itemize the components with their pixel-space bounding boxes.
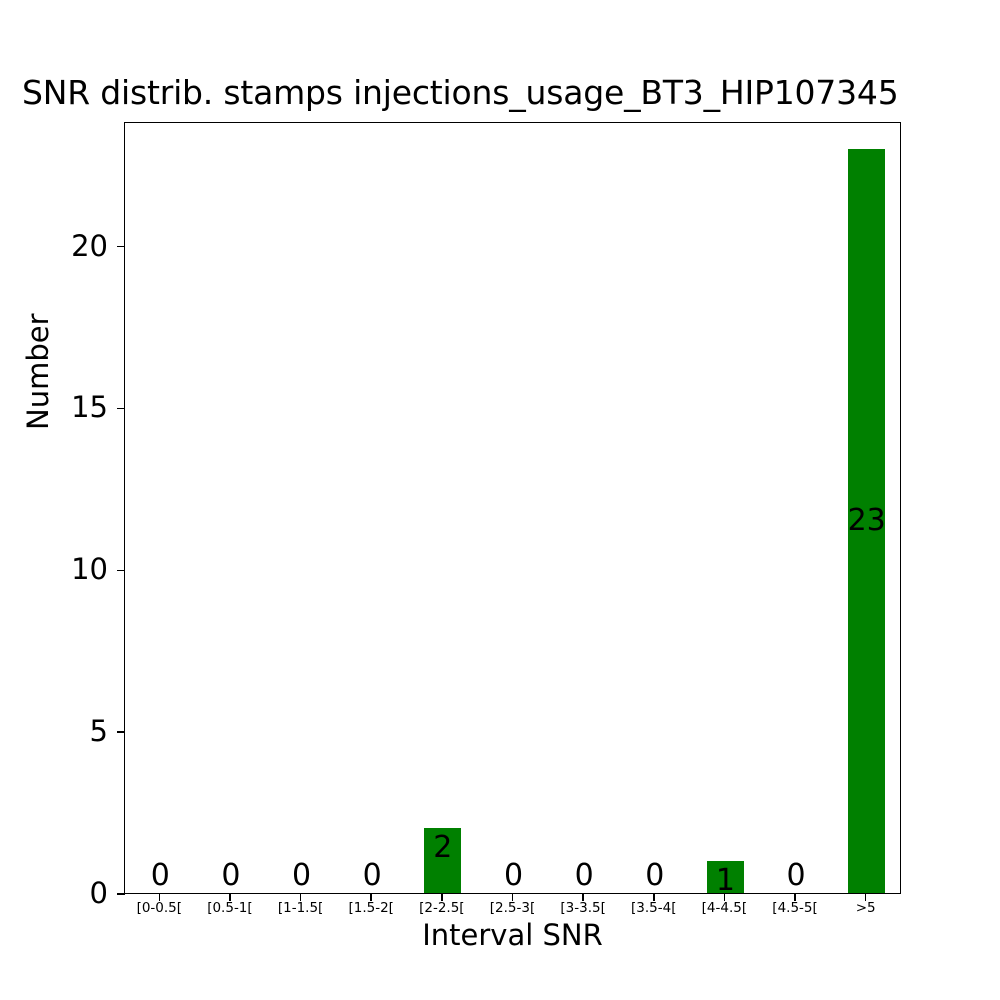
y-tick-label: 15 bbox=[28, 393, 108, 422]
x-tick-label: >5 bbox=[830, 900, 901, 916]
x-tick-label: [0-0.5[ bbox=[124, 900, 195, 916]
bar-value-label: 0 bbox=[478, 861, 549, 891]
bar-value-label: 0 bbox=[549, 861, 620, 891]
x-tick-label: [3.5-4[ bbox=[618, 900, 689, 916]
x-tick-mark bbox=[159, 893, 161, 901]
bar-value-label: 0 bbox=[337, 861, 408, 891]
x-tick-label: [1-1.5[ bbox=[265, 900, 336, 916]
x-tick-label: [4.5-5[ bbox=[760, 900, 831, 916]
bar-value-label: 23 bbox=[831, 506, 902, 536]
x-tick-mark bbox=[794, 893, 796, 901]
y-tick-label: 5 bbox=[28, 717, 108, 746]
bar-value-label: 0 bbox=[266, 861, 337, 891]
x-tick-label: [4-4.5[ bbox=[689, 900, 760, 916]
x-tick-label: [2-2.5[ bbox=[407, 900, 478, 916]
bar-value-label: 0 bbox=[125, 861, 196, 891]
bars-layer: 000020001023 bbox=[125, 123, 900, 893]
x-tick-label: [1.5-2[ bbox=[336, 900, 407, 916]
x-tick-mark bbox=[653, 893, 655, 901]
x-tick-mark bbox=[865, 893, 867, 901]
x-tick-mark bbox=[724, 893, 726, 901]
chart-title: SNR distrib. stamps injections_usage_BT3… bbox=[22, 70, 1000, 116]
x-tick-mark bbox=[229, 893, 231, 901]
bar-value-label: 1 bbox=[690, 866, 761, 896]
bar-value-label: 0 bbox=[196, 861, 267, 891]
x-tick-mark bbox=[370, 893, 372, 901]
y-tick-label: 0 bbox=[28, 879, 108, 908]
x-tick-label: [0.5-1[ bbox=[195, 900, 266, 916]
plot-area: 000020001023 bbox=[124, 122, 901, 894]
x-tick-mark bbox=[441, 893, 443, 901]
x-tick-mark bbox=[300, 893, 302, 901]
y-tick-label: 20 bbox=[28, 232, 108, 261]
x-tick-mark bbox=[512, 893, 514, 901]
bar-value-label: 2 bbox=[408, 833, 479, 863]
bar-value-label: 0 bbox=[619, 861, 690, 891]
y-tick-label: 10 bbox=[28, 555, 108, 584]
x-tick-label: [3-3.5[ bbox=[548, 900, 619, 916]
x-tick-mark bbox=[582, 893, 584, 901]
x-axis-label: Interval SNR bbox=[124, 918, 901, 952]
x-tick-label: [2.5-3[ bbox=[477, 900, 548, 916]
bar-value-label: 0 bbox=[761, 861, 832, 891]
chart-figure: SNR distrib. stamps injections_usage_BT3… bbox=[0, 0, 1000, 1000]
